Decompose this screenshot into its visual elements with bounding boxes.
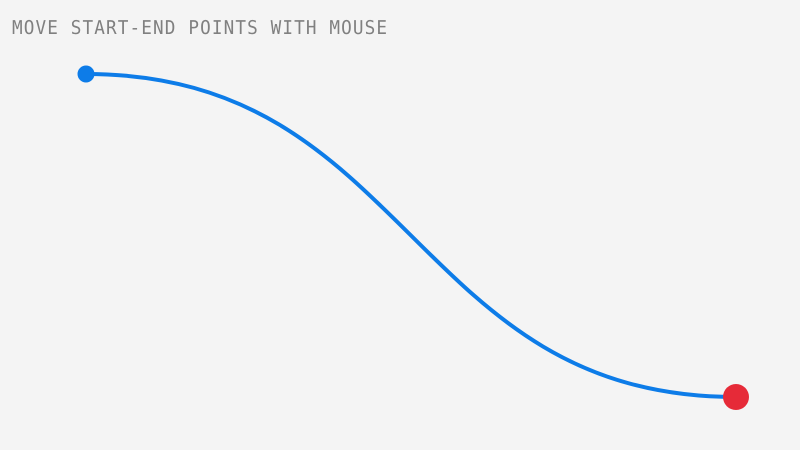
bezier-curve-demo-app: MOVE START-END POINTS WITH MOUSE	[0, 0, 800, 450]
page-title: MOVE START-END POINTS WITH MOUSE	[12, 16, 388, 40]
start-point-handle[interactable]	[78, 66, 95, 83]
drawing-canvas[interactable]	[0, 0, 800, 450]
end-point-handle[interactable]	[723, 384, 749, 410]
bezier-curve-path	[86, 74, 736, 397]
curve-svg[interactable]	[0, 0, 800, 450]
